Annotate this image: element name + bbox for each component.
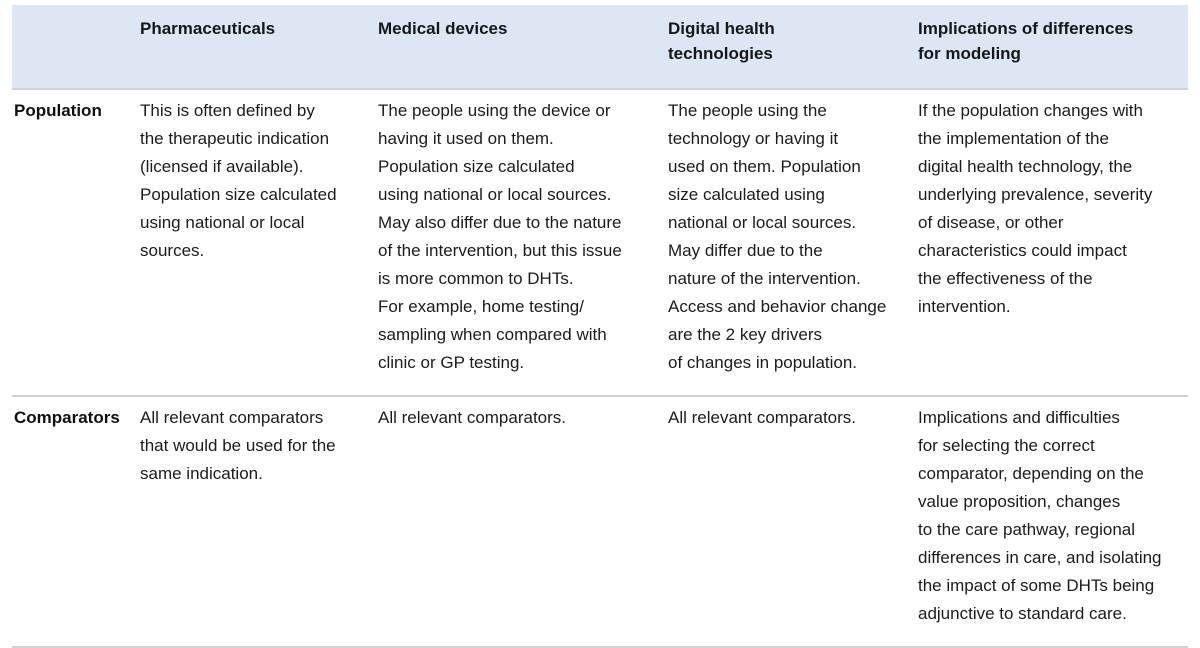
cell-population-implications: If the population changes with the imple… — [916, 89, 1188, 396]
header-cell-digital-health-technologies: Digital health technologies — [666, 5, 916, 89]
cell-text: The people using the technology or havin… — [668, 97, 902, 377]
cell-comparators-implications: Implications and difficulties for select… — [916, 396, 1188, 647]
table-header-row: Pharmaceuticals Medical devices Digital … — [12, 5, 1188, 89]
cell-text: This is often defined by the therapeutic… — [140, 97, 362, 265]
header-label-digital-health-technologies: Digital health technologies — [668, 16, 902, 66]
cell-population-pharmaceuticals: This is often defined by the therapeutic… — [138, 89, 376, 396]
cell-population-medical-devices: The people using the device or having it… — [376, 89, 666, 396]
comparison-table: Pharmaceuticals Medical devices Digital … — [12, 5, 1188, 648]
cell-text: The people using the device or having it… — [378, 97, 652, 377]
cell-text: All relevant comparators. — [668, 404, 902, 432]
comparison-table-container: Pharmaceuticals Medical devices Digital … — [0, 5, 1200, 521]
cell-text: Implications and difficulties for select… — [918, 404, 1174, 628]
cell-comparators-pharmaceuticals: All relevant comparators that would be u… — [138, 396, 376, 647]
header-cell-implications: Implications of differences for modeling — [916, 5, 1188, 89]
cell-text: All relevant comparators. — [378, 404, 652, 432]
header-label-implications: Implications of differences for modeling — [918, 16, 1174, 66]
cell-text: If the population changes with the imple… — [918, 97, 1174, 321]
header-cell-pharmaceuticals: Pharmaceuticals — [138, 5, 376, 89]
row-label-comparators: Comparators — [12, 396, 138, 647]
cell-comparators-medical-devices: All relevant comparators. — [376, 396, 666, 647]
row-label-population: Population — [12, 89, 138, 396]
cell-text: All relevant comparators that would be u… — [140, 404, 362, 488]
table-body: Population This is often defined by the … — [12, 89, 1188, 647]
header-cell-medical-devices: Medical devices — [376, 5, 666, 89]
cell-population-digital-health-technologies: The people using the technology or havin… — [666, 89, 916, 396]
header-cell-corner — [12, 5, 138, 89]
table-row: Comparators All relevant comparators tha… — [12, 396, 1188, 647]
table-header: Pharmaceuticals Medical devices Digital … — [12, 5, 1188, 89]
cell-comparators-digital-health-technologies: All relevant comparators. — [666, 396, 916, 647]
header-label-pharmaceuticals: Pharmaceuticals — [140, 16, 362, 41]
header-label-medical-devices: Medical devices — [378, 16, 652, 41]
table-row: Population This is often defined by the … — [12, 89, 1188, 396]
